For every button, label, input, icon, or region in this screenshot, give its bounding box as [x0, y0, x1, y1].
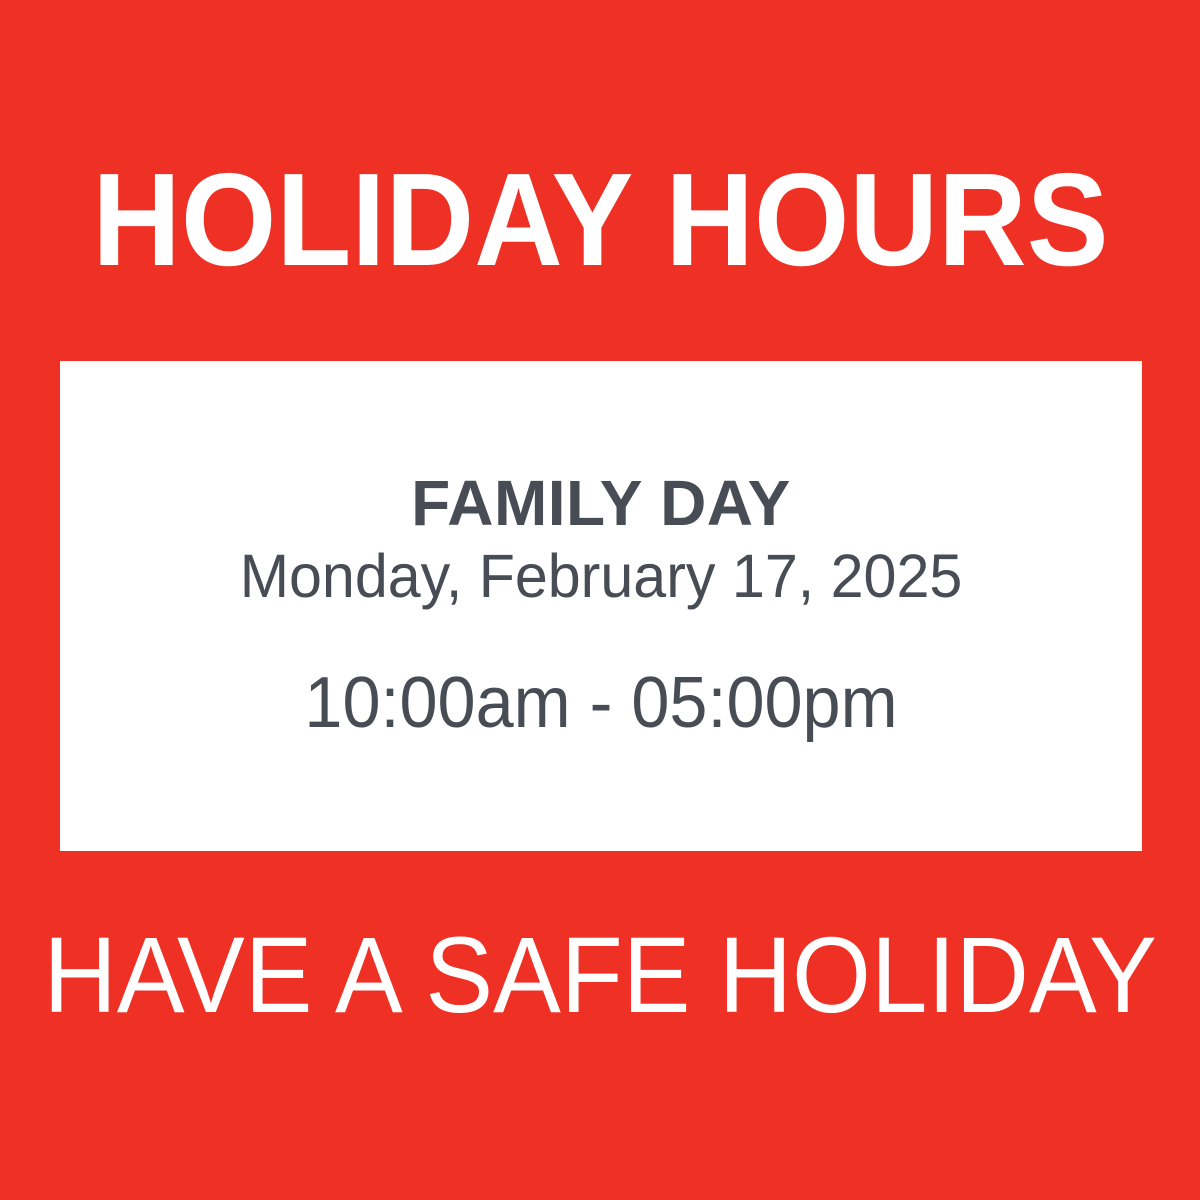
page-title: HOLIDAY HOURS [92, 154, 1108, 286]
holiday-name: FAMILY DAY [60, 471, 1142, 536]
poster-footer-band: HAVE A SAFE HOLIDAY [0, 915, 1200, 1035]
holiday-detail-card: FAMILY DAY Monday, February 17, 2025 10:… [60, 361, 1142, 851]
holiday-hours-poster: HOLIDAY HOURS FAMILY DAY Monday, Februar… [0, 0, 1200, 1200]
holiday-date: Monday, February 17, 2025 [76, 544, 1126, 608]
holiday-detail-content: FAMILY DAY Monday, February 17, 2025 10:… [60, 471, 1142, 742]
footer-message: HAVE A SAFE HOLIDAY [43, 921, 1156, 1029]
holiday-hours-range: 10:00am - 05:00pm [87, 666, 1115, 742]
poster-heading-band: HOLIDAY HOURS [0, 150, 1200, 290]
